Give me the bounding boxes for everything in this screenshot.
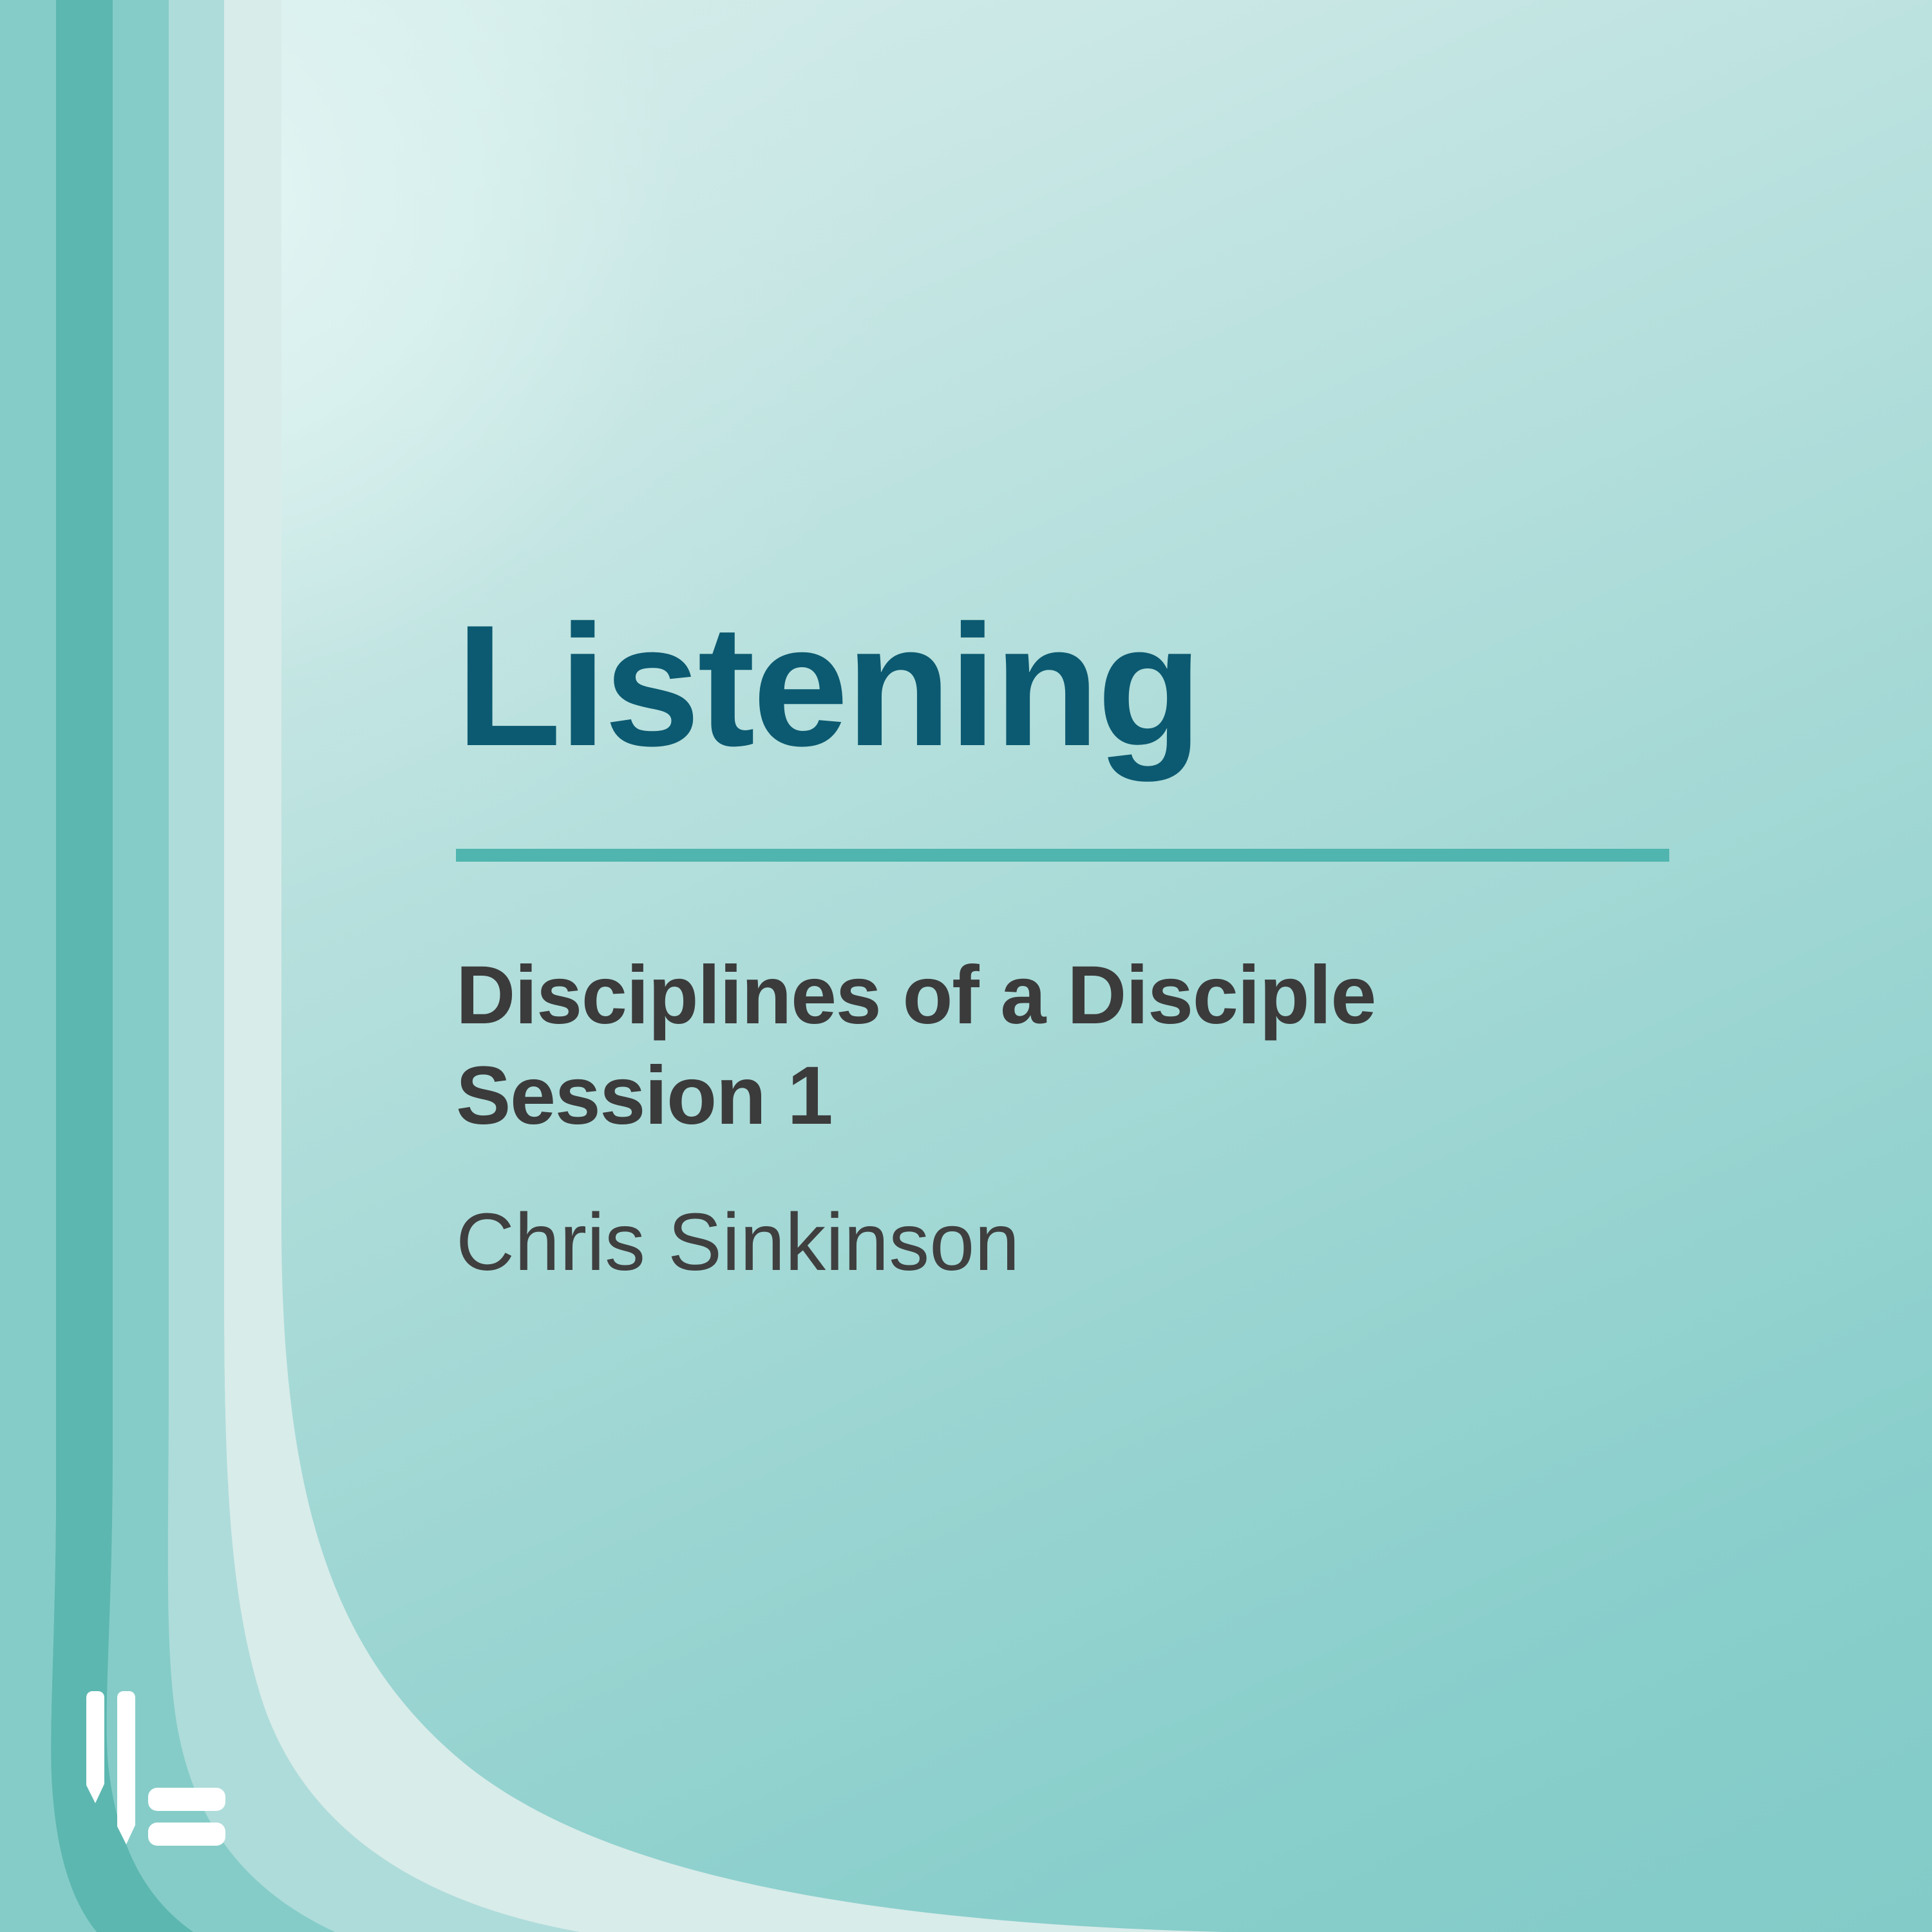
- logo-bar-left: [86, 1691, 104, 1803]
- series-subtitle-line-2: Session 1: [456, 1046, 1731, 1146]
- title-divider: [456, 849, 1669, 862]
- logo-bar-top-horizontal: [148, 1788, 225, 1811]
- podcast-cover-card: Listening Disciplines of a Disciple Sess…: [0, 0, 1932, 1932]
- logo-bar-bottom-horizontal: [148, 1823, 225, 1846]
- series-subtitle: Disciplines of a Disciple Session 1: [456, 945, 1731, 1146]
- logo-bar-second: [117, 1691, 135, 1844]
- author-name: Chris Sinkinson: [456, 1193, 1019, 1292]
- page-title: Listening: [456, 599, 1200, 772]
- series-subtitle-line-1: Disciplines of a Disciple: [456, 945, 1731, 1046]
- brand-mark-logo: [81, 1689, 229, 1862]
